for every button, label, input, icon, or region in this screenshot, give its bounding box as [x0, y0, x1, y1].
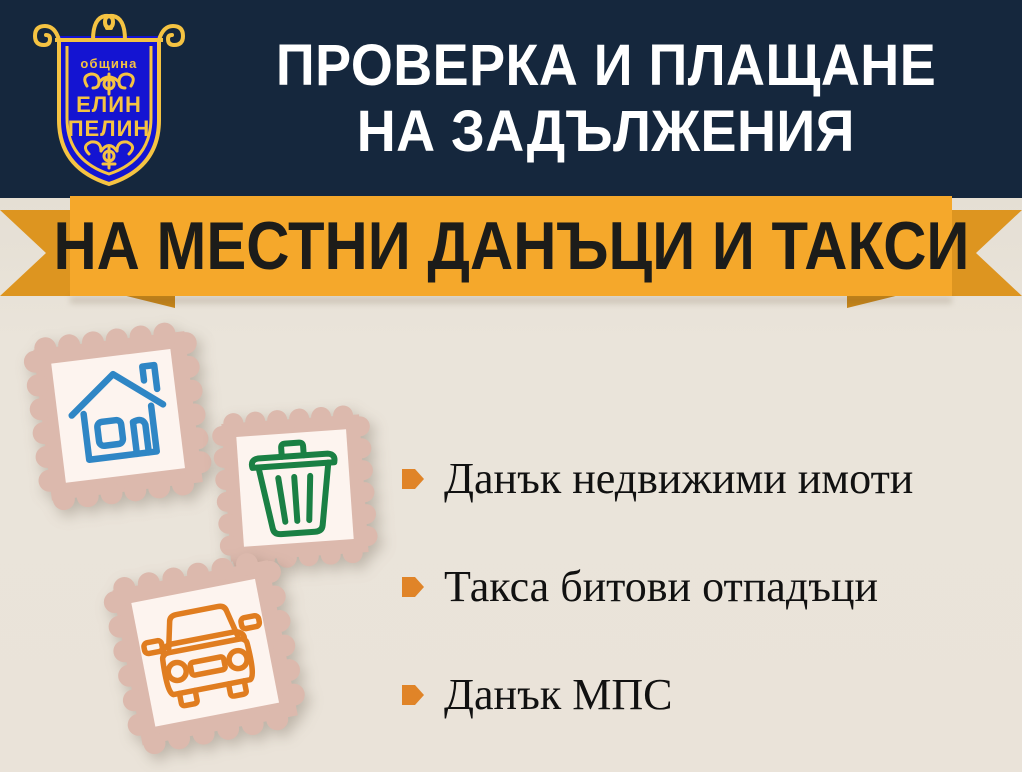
header-bar: община ЕЛИН ПЕЛИН — [0, 0, 1022, 198]
municipality-crest-logo: община ЕЛИН ПЕЛИН — [33, 8, 185, 190]
list-item[interactable]: Такса битови отпадъци — [402, 533, 1017, 641]
header-title-block: ПРОВЕРКА И ПЛАЩАНЕ НА ЗАДЪЛЖЕНИЯ — [190, 0, 1022, 198]
obligation-types-list: Данък недвижими имоти Такса битови отпад… — [402, 425, 1017, 749]
list-item-label: Такса битови отпадъци — [444, 563, 878, 611]
poster-canvas: община ЕЛИН ПЕЛИН — [0, 0, 1022, 772]
list-item-label: Данък МПС — [444, 671, 672, 719]
list-item[interactable]: Данък МПС — [402, 641, 1017, 749]
stamp-card-property — [10, 308, 225, 523]
list-item[interactable]: Данък недвижими имоти — [402, 425, 1017, 533]
svg-text:ПЕЛИН: ПЕЛИН — [68, 116, 151, 141]
stamp-card-vehicle — [92, 540, 317, 765]
svg-text:община: община — [80, 56, 137, 71]
header-title-line-2: НА ЗАДЪЛЖЕНИЯ — [357, 99, 855, 165]
arrow-bullet-icon — [402, 575, 424, 599]
svg-text:ЕЛИН: ЕЛИН — [76, 92, 142, 117]
header-title-line-1: ПРОВЕРКА И ПЛАЩАНЕ — [276, 33, 936, 99]
ribbon-drop-shadow — [70, 296, 952, 304]
arrow-bullet-icon — [402, 467, 424, 491]
ribbon-banner: НА МЕСТНИ ДАНЪЦИ И ТАКСИ — [0, 196, 1022, 306]
ribbon-label: НА МЕСТНИ ДАНЪЦИ И ТАКСИ — [53, 212, 969, 280]
arrow-bullet-icon — [402, 683, 424, 707]
ribbon-band: НА МЕСТНИ ДАНЪЦИ И ТАКСИ — [70, 196, 952, 296]
list-item-label: Данък недвижими имоти — [444, 455, 913, 503]
